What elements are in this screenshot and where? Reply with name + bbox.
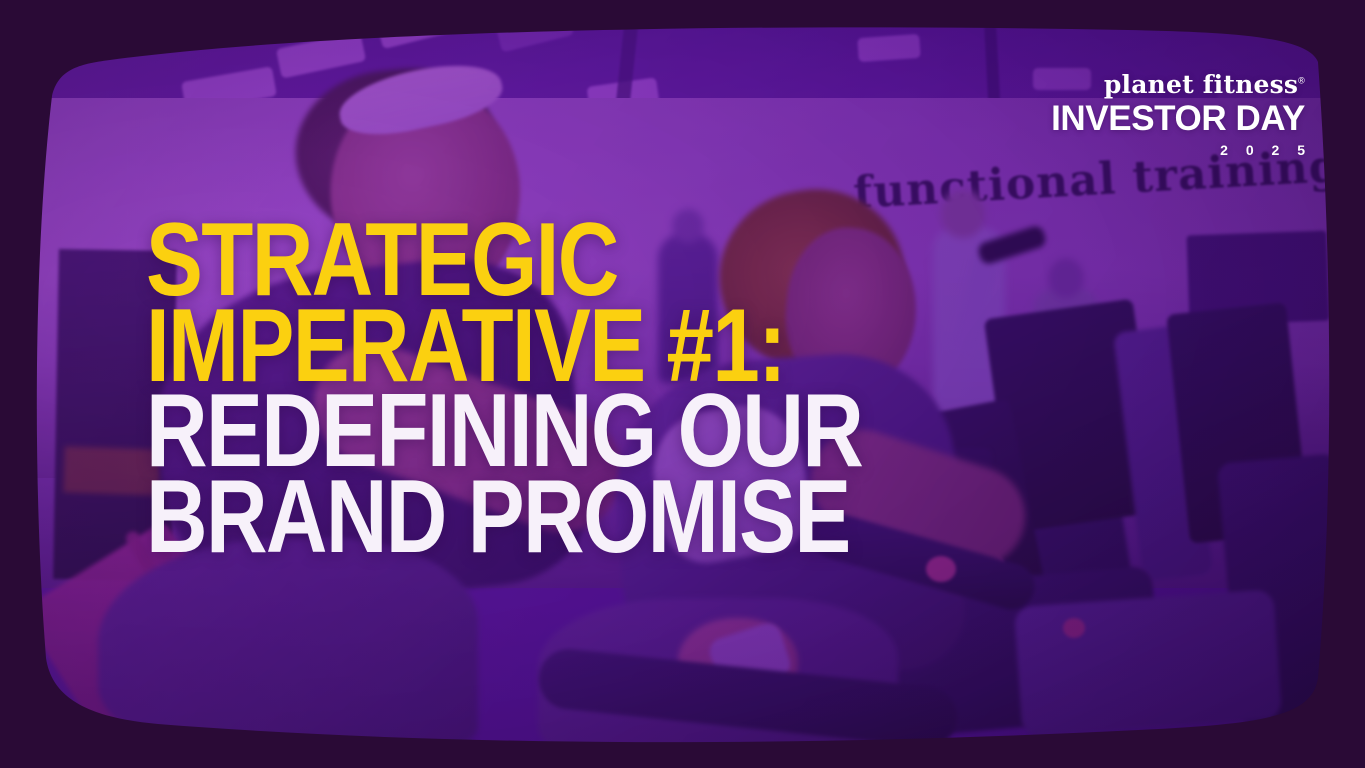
event-year: 2 0 2 5 [1051,142,1312,158]
curved-photo-panel: functional training [18,18,1347,753]
investor-day-logo: planet fitness® INVESTOR DAY 2 0 2 5 [1051,72,1305,158]
presentation-slide: functional training [0,0,1365,768]
planet-fitness-wordmark: planet fitness® [1104,72,1305,97]
ceiling-beam [538,18,1057,24]
brand-name: planet fitness [1104,70,1298,99]
slide-headline: STRATEGIC IMPERATIVE #1: REDEFINING OUR … [146,214,1019,556]
headline-line-4: BRAND PROMISE [146,471,862,565]
event-title: INVESTOR DAY [1051,101,1305,137]
trademark-symbol: ® [1298,76,1305,86]
